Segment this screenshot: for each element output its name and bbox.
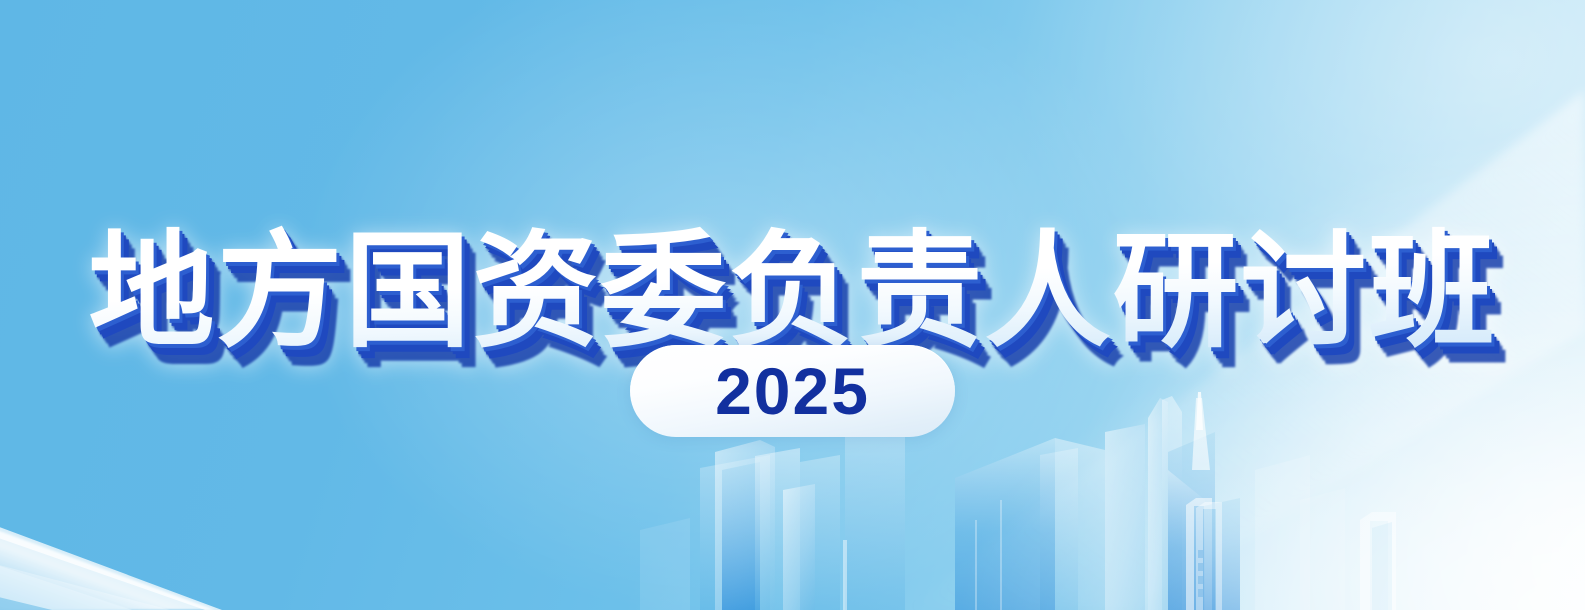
year-badge: 2025 (630, 345, 955, 437)
light-streak-bottom-left (0, 516, 222, 610)
year-badge-label: 2025 (715, 358, 870, 424)
event-banner: 地方国资委负责人研讨班 2025 (0, 0, 1585, 610)
year-badge-container: 2025 (0, 345, 1585, 437)
page-title: 地方国资委负责人研讨班 (89, 224, 1497, 360)
